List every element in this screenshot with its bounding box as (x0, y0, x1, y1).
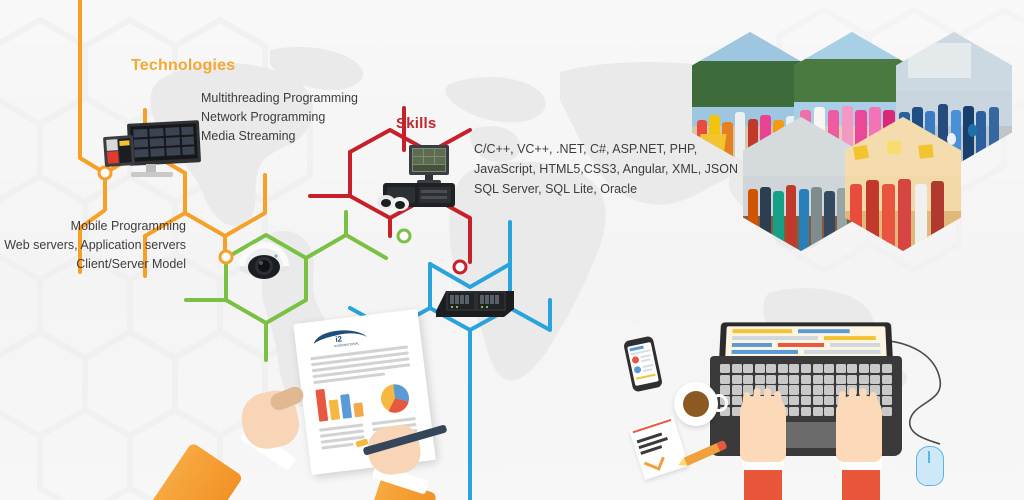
smartphone[interactable] (623, 335, 663, 392)
report-bar (315, 389, 328, 422)
report-bar (329, 399, 340, 420)
smartphone-screen (627, 342, 659, 386)
desk-right-sleeve (842, 468, 880, 500)
network-node-red-blue (454, 261, 466, 273)
cup-handle (710, 394, 728, 412)
technologies-item: Multithreading Programming (201, 89, 358, 108)
left-capabilities-item: Mobile Programming (0, 217, 186, 236)
desk-workspace-illustration (620, 300, 1024, 500)
technologies-list: Multithreading Programming Network Progr… (201, 89, 358, 146)
company-logo-icon: i2 INTERNATIONAL (310, 325, 370, 352)
computer-mouse[interactable] (916, 446, 944, 486)
skills-heading: Skills (396, 115, 436, 132)
server-workstation-icon (371, 141, 467, 213)
notepad (629, 416, 689, 480)
team-photo-collage (686, 22, 1016, 252)
left-capabilities-list: Mobile Programming Web servers, Applicat… (0, 217, 186, 274)
technologies-item: Media Streaming (201, 127, 358, 146)
report-pie-chart (377, 380, 413, 416)
report-bar (353, 402, 364, 417)
network-node-green-red (398, 230, 410, 242)
coffee-cup (674, 382, 718, 426)
video-wall-monitor-icon (98, 118, 206, 180)
report-bar (340, 394, 352, 419)
check-icon (644, 451, 665, 470)
laptop-screen (725, 326, 886, 358)
left-capabilities-item: Client/Server Model (0, 255, 186, 274)
report-review-illustration: i2 INTERNATIONAL (186, 300, 456, 500)
coffee-liquid (683, 391, 709, 417)
banner-stage: Technologies Multithreading Programming … (0, 0, 1024, 500)
left-capabilities-item: Web servers, Application servers (0, 236, 186, 255)
dome-camera-icon (231, 224, 297, 282)
technologies-item: Network Programming (201, 108, 358, 127)
desk-left-sleeve (744, 468, 782, 500)
report-bar-chart (315, 384, 371, 422)
technologies-heading: Technologies (131, 57, 235, 75)
